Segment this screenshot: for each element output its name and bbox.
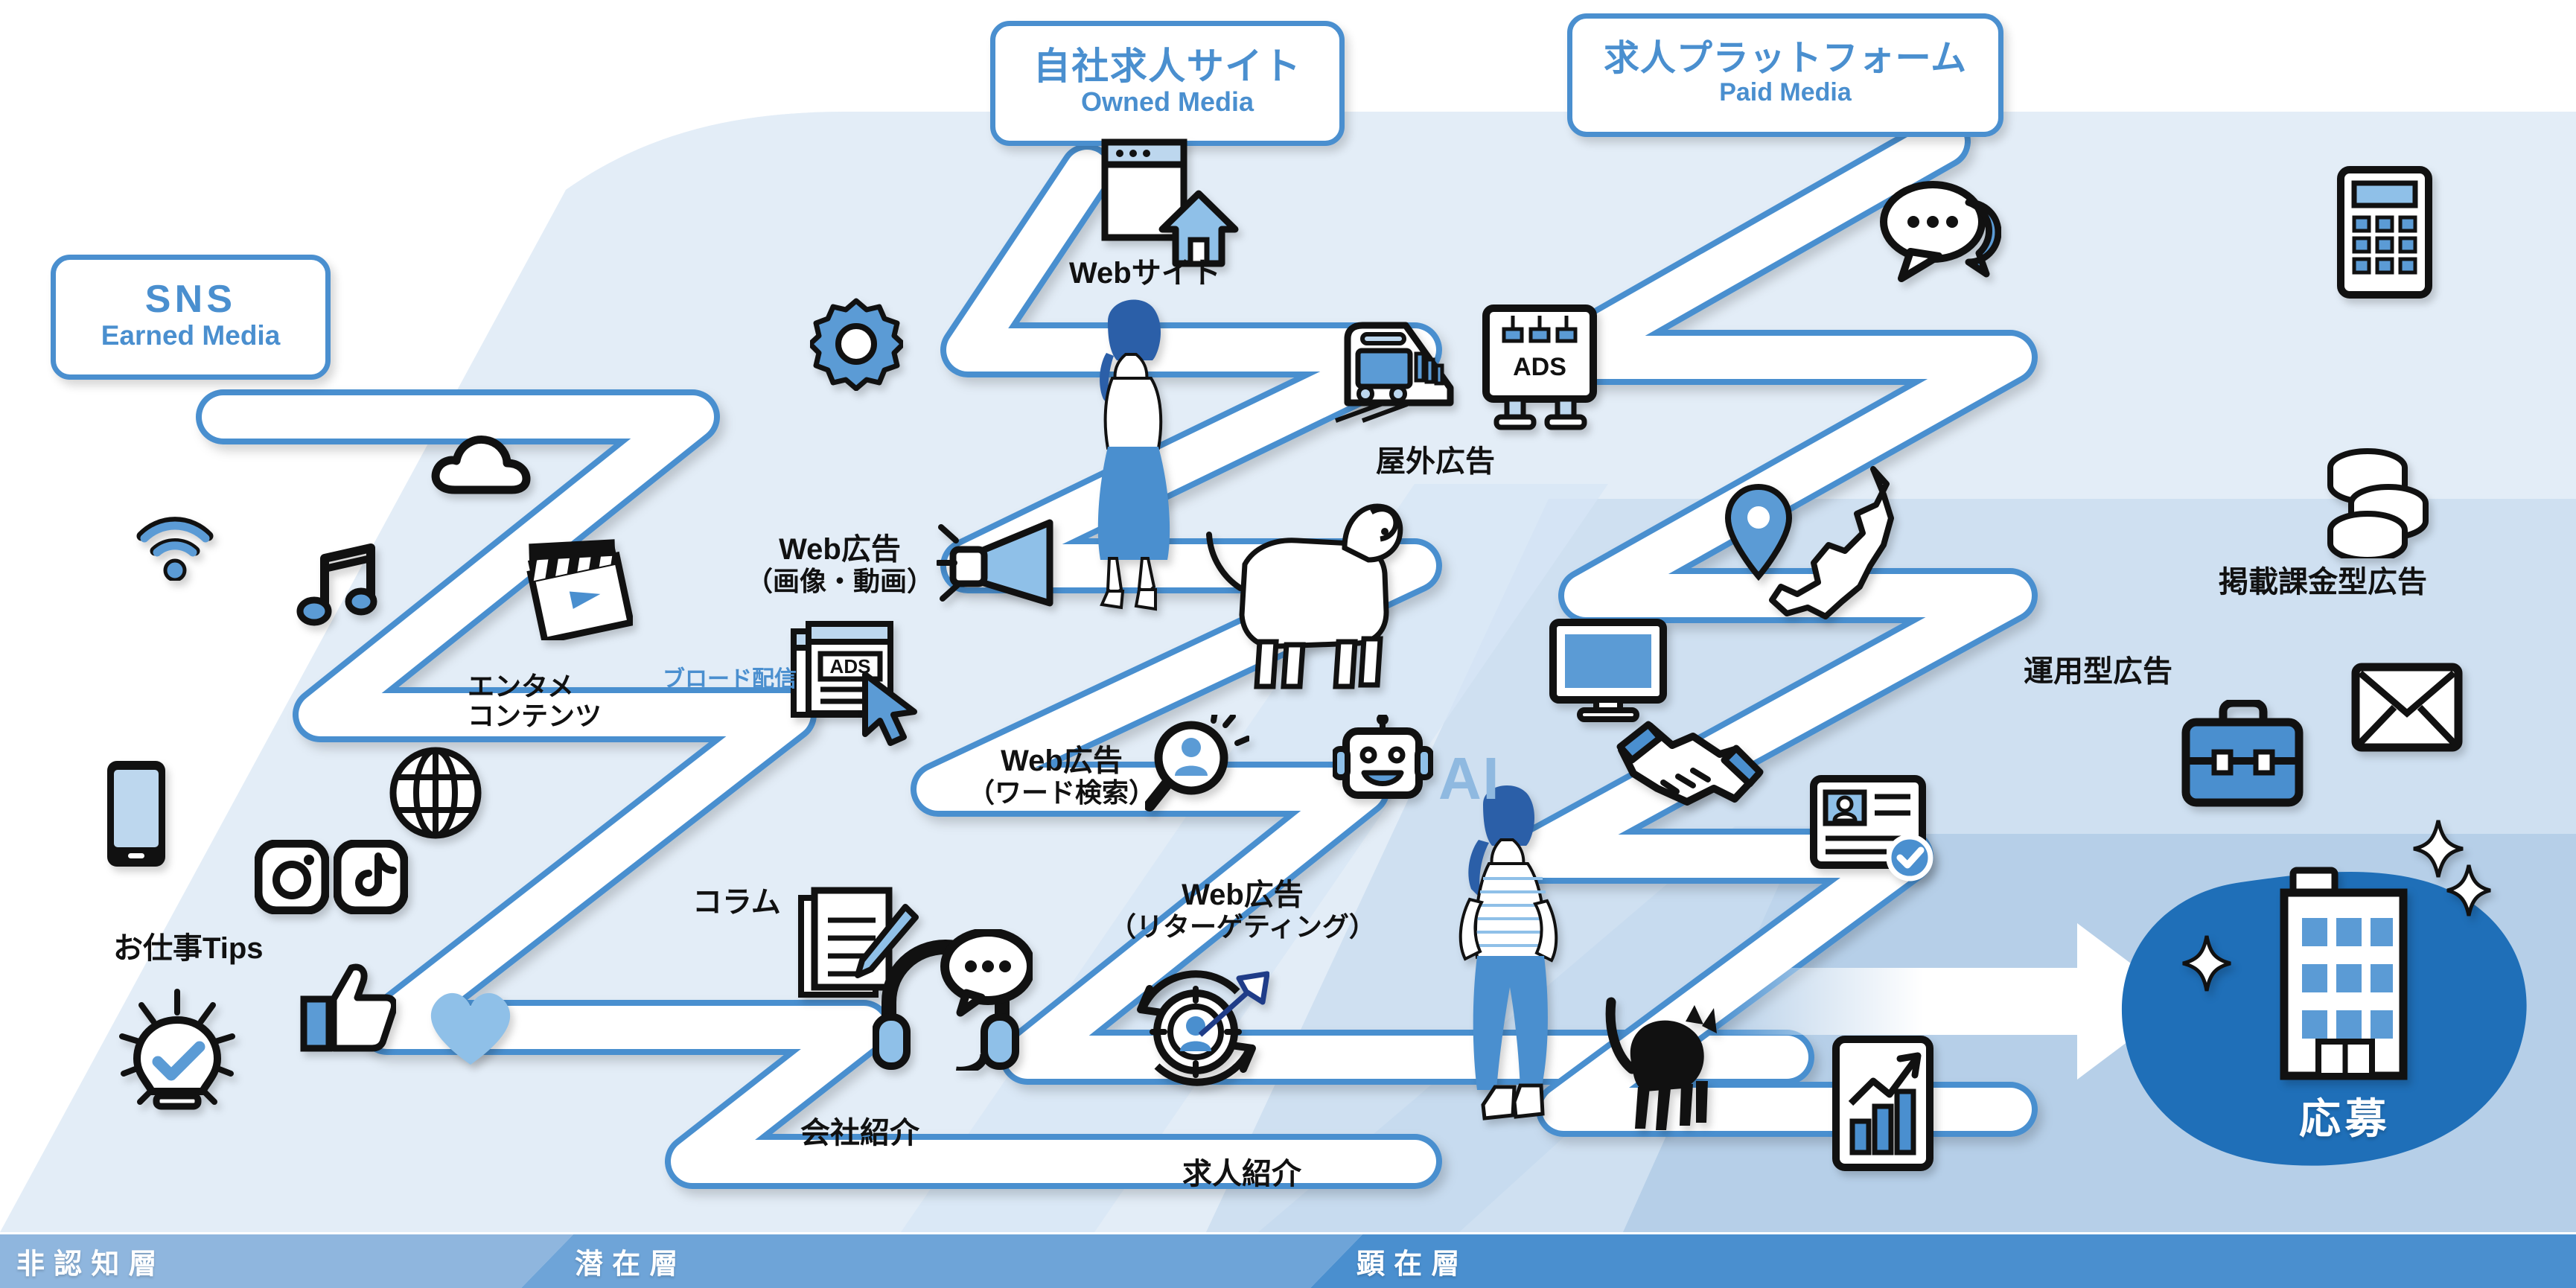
billboard-ads-icon: ADS	[1480, 304, 1599, 430]
japan-map-icon	[1764, 462, 1898, 633]
label-outdoor-ad: 屋外広告	[1376, 445, 1495, 479]
envelope-icon	[2351, 663, 2463, 752]
label-entertainment-content: エンタメ コンテンツ	[468, 672, 602, 732]
sparkle-icon	[2446, 864, 2492, 917]
stage-band-unaware-label: 非認知層	[16, 1241, 166, 1282]
label-web-ad-image-video: Web広告 （画像・動画）	[746, 533, 934, 596]
monitor-icon	[1549, 618, 1668, 722]
lightbulb-check-icon	[112, 984, 242, 1118]
megaphone-icon	[937, 512, 1056, 609]
stage-band-latent: 潜在層	[558, 1234, 1362, 1288]
label-entertainment-content-line1: エンタメ	[468, 671, 574, 701]
label-web-ad-image-video-line1: Web広告	[779, 533, 901, 566]
svg-text:ADS: ADS	[1513, 353, 1566, 381]
thumbs-up-icon	[299, 960, 396, 1053]
magnifier-person-icon	[1145, 715, 1249, 819]
callout-paid-media[interactable]: 求人プラットフォーム Paid Media	[1567, 13, 2003, 137]
callout-sns-subtitle: Earned Media	[101, 320, 281, 352]
label-web-ad-image-video-line2: （画像・動画）	[746, 567, 934, 596]
sparkle-icon	[2181, 934, 2232, 992]
callout-paid-media-subtitle: Paid Media	[1719, 78, 1852, 107]
label-ai: AI	[1438, 745, 1500, 813]
callout-owned-media-subtitle: Owned Media	[1081, 86, 1254, 117]
music-note-icon	[290, 536, 387, 633]
train-icon	[1333, 316, 1463, 428]
woman-walking-2-icon	[1437, 774, 1578, 1161]
label-column: コラム	[692, 886, 781, 919]
stage-band-unaware: 非認知層	[0, 1234, 573, 1288]
label-entertainment-content-line2: コンテンツ	[468, 701, 602, 731]
label-web-ad-retargeting-line2: （リターゲティング）	[1109, 912, 1376, 942]
briefcase-icon	[2181, 700, 2304, 808]
label-web-ad-word-search: Web広告 （ワード検索）	[968, 745, 1155, 808]
smartphone-icon	[104, 758, 168, 870]
label-job-intro: 求人紹介	[1182, 1158, 1301, 1191]
stage-band-aware: 顕在層	[1340, 1234, 2576, 1288]
label-web-ad-word-search-line1: Web広告	[1001, 745, 1123, 777]
infographic-canvas: 非認知層 潜在層 顕在層 SNS Earned Media 自社求人サイト Ow…	[0, 0, 2576, 1288]
stage-band-aware-label: 顕在層	[1356, 1241, 1468, 1282]
label-broad-delivery: ブロード配信	[663, 667, 797, 692]
label-company-intro: 会社紹介	[800, 1117, 919, 1150]
callout-owned-media[interactable]: 自社求人サイト Owned Media	[990, 21, 1345, 146]
instagram-icon	[255, 840, 329, 914]
speech-bubbles-icon	[1875, 179, 2001, 287]
woman-walking-icon	[1065, 283, 1195, 618]
stage-band-row: 非認知層 潜在層 顕在層	[0, 1234, 2576, 1288]
stage-band-latent-label: 潜在層	[575, 1241, 686, 1282]
label-listing-fee-ad: 掲載課金型広告	[2219, 566, 2427, 599]
globe-icon	[387, 745, 484, 841]
label-website: Webサイト	[1069, 257, 1221, 290]
callout-paid-media-title: 求人プラットフォーム	[1604, 40, 1967, 77]
gear-icon	[810, 298, 903, 391]
handshake-icon	[1616, 711, 1764, 819]
callout-sns-title: SNS	[145, 279, 237, 320]
retarget-arrow-icon	[1124, 960, 1269, 1098]
label-apply: 応募	[2299, 1096, 2391, 1143]
cloud-icon	[428, 424, 532, 495]
label-web-ad-word-search-line2: （ワード検索）	[968, 778, 1155, 808]
label-managed-ad: 運用型広告	[2024, 655, 2172, 689]
cursor-arrow-icon	[858, 670, 925, 748]
resume-check-icon	[1809, 774, 1939, 882]
dog-icon	[1199, 476, 1403, 692]
heart-icon	[421, 981, 521, 1071]
tiktok-icon	[334, 840, 408, 914]
label-web-ad-retargeting-line1: Web広告	[1182, 879, 1304, 911]
callout-owned-media-title: 自社求人サイト	[1033, 47, 1302, 86]
cat-icon	[1593, 975, 1731, 1135]
label-web-ad-retargeting: Web広告 （リターゲティング）	[1109, 879, 1376, 942]
office-building-icon	[2278, 860, 2420, 1083]
coins-icon	[2321, 447, 2433, 558]
wifi-icon	[134, 506, 216, 581]
robot-icon	[1333, 715, 1433, 815]
growth-chart-icon	[1831, 1035, 1936, 1173]
callout-sns[interactable]: SNS Earned Media	[51, 255, 331, 380]
calculator-icon	[2336, 165, 2433, 299]
label-oshigoto-tips: お仕事Tips	[113, 932, 264, 966]
clapperboard-icon	[521, 521, 633, 640]
headset-chat-icon	[873, 929, 1033, 1071]
